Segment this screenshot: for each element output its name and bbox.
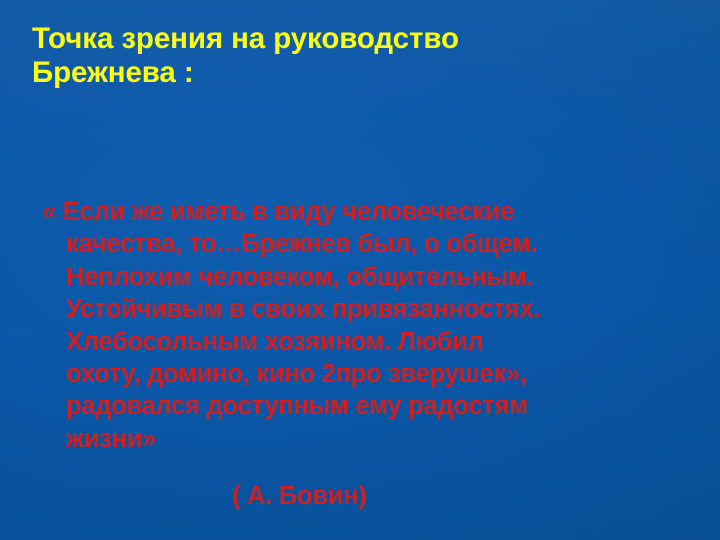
quote-line-1: « Если же иметь в виду человеческие	[42, 196, 682, 228]
quote-line-6: охоту, домино, кино 2про зверушек»,	[42, 358, 682, 390]
quote-line-2: качества, то…Брежнев был, о общем.	[42, 228, 682, 260]
presentation-slide: Точка зрения на руководство Брежнева : «…	[0, 0, 720, 540]
quote-line-3: Неплохим человеком, общительным.	[42, 261, 682, 293]
quote-line-4: Устойчивым в своих привязанностях.	[42, 293, 682, 325]
attribution-text: ( А. Бовин)	[42, 481, 682, 512]
quote-line-8: жизни»	[42, 423, 682, 455]
slide-title: Точка зрения на руководство Брежнева :	[32, 22, 682, 90]
title-line-2: Брежнева :	[32, 56, 682, 90]
quote-line-5: Хлебосольным хозяином. Любил	[42, 326, 682, 358]
quote-line-7: радовался доступным ему радостям	[42, 390, 682, 422]
title-line-1: Точка зрения на руководство	[32, 22, 682, 56]
slide-body-quote: « Если же иметь в виду человеческие каче…	[42, 196, 682, 455]
slide-attribution: ( А. Бовин)	[42, 481, 682, 512]
